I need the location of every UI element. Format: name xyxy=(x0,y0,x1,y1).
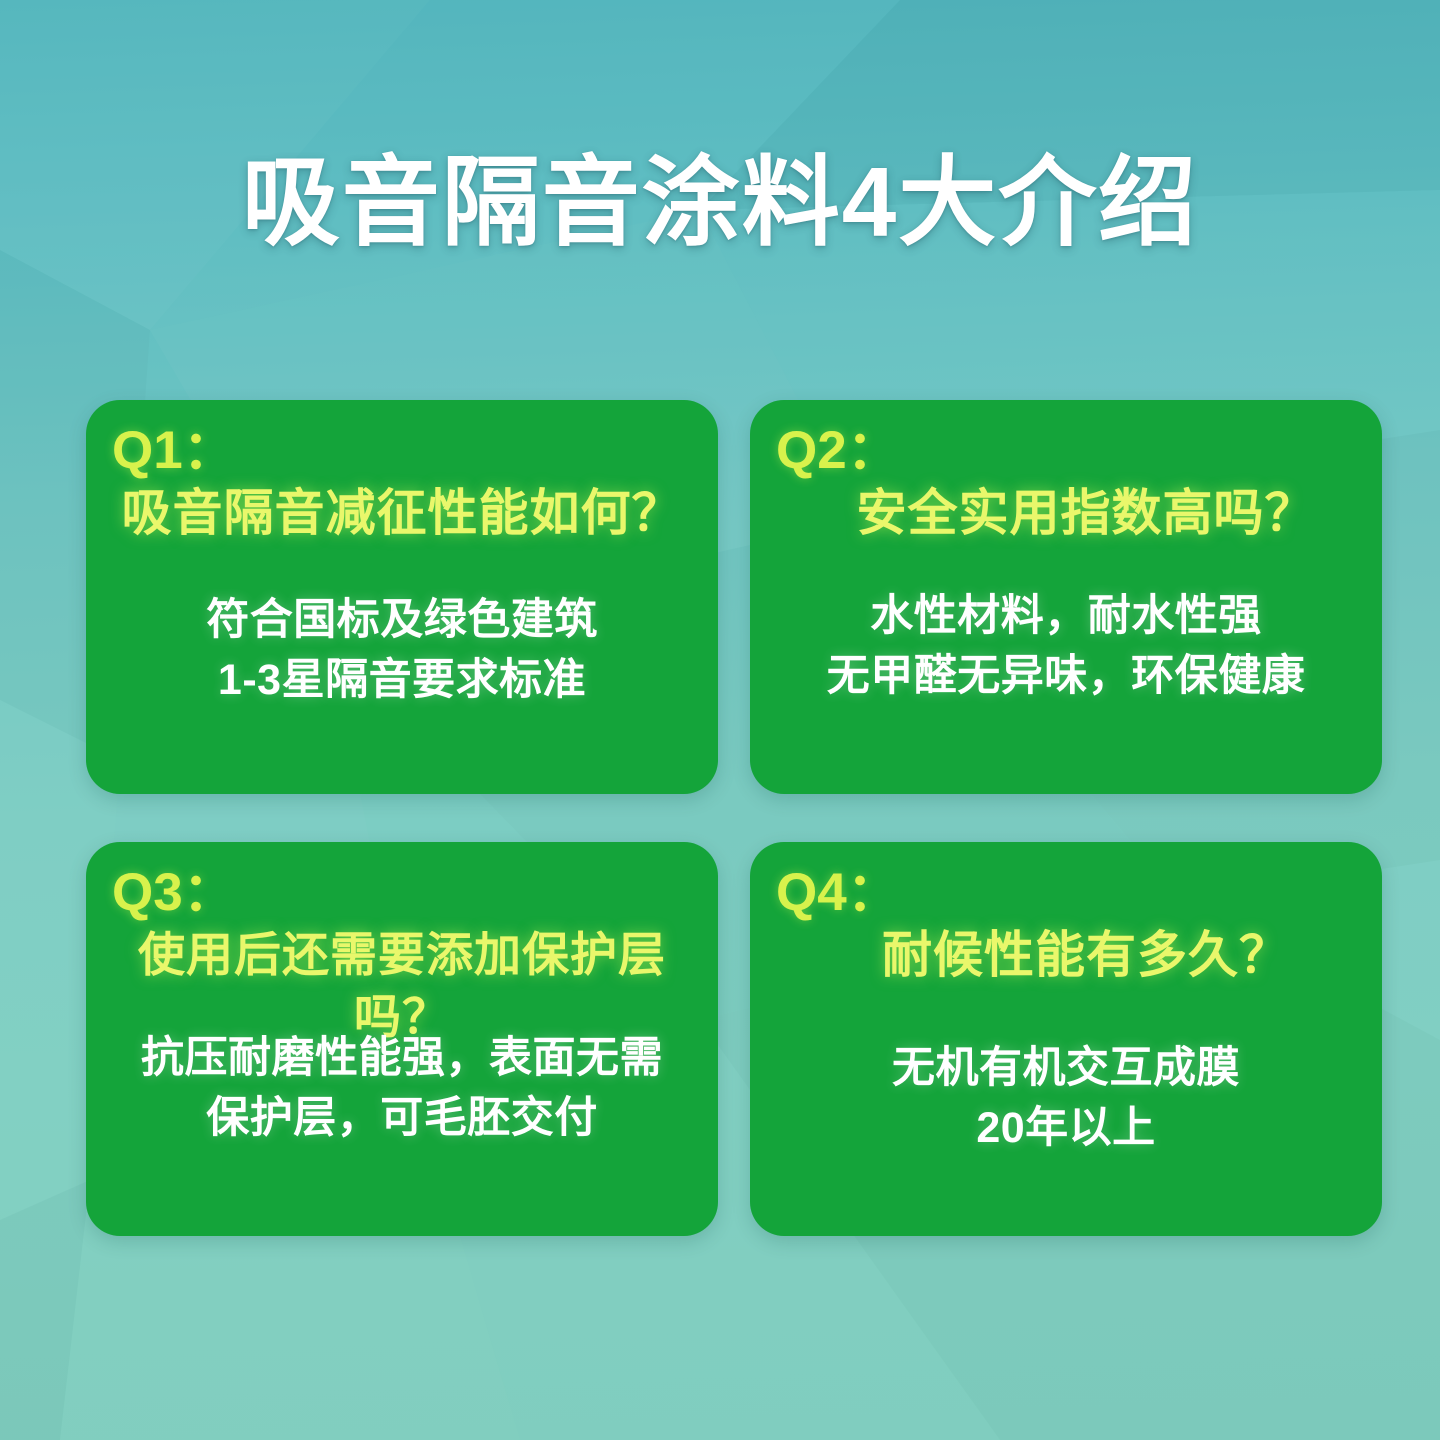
faq-answer-line: 符合国标及绿色建筑 xyxy=(108,590,696,650)
faq-card-q2: Q2： 安全实用指数高吗？ 水性材料，耐水性强 无甲醛无异味，环保健康 xyxy=(750,400,1382,794)
faq-answer-line: 保护层，可毛胚交付 xyxy=(108,1088,696,1148)
faq-card-grid: Q1： 吸音隔音减征性能如何？ 符合国标及绿色建筑 1-3星隔音要求标准 Q2：… xyxy=(86,400,1382,1236)
faq-answer-line: 无机有机交互成膜 xyxy=(772,1038,1360,1098)
faq-answer-line: 水性材料，耐水性强 xyxy=(772,586,1360,646)
faq-card-answer-q2: 水性材料，耐水性强 无甲醛无异味，环保健康 xyxy=(772,586,1360,706)
faq-answer-line: 20年以上 xyxy=(772,1098,1360,1158)
faq-answer-line: 1-3星隔音要求标准 xyxy=(108,650,696,710)
faq-card-answer-q4: 无机有机交互成膜 20年以上 xyxy=(772,1038,1360,1158)
page-title-text: 吸音隔音涂料4大介绍 xyxy=(242,146,1199,258)
page-title: 吸音隔音涂料4大介绍 xyxy=(0,146,1440,258)
faq-card-question-q1: 吸音隔音减征性能如何？ xyxy=(104,482,700,544)
faq-card-q3: Q3： 使用后还需要添加保护层吗？ 抗压耐磨性能强，表面无需 保护层，可毛胚交付 xyxy=(86,842,718,1236)
faq-card-label-q2: Q2： xyxy=(776,422,900,480)
faq-card-label-q3: Q3： xyxy=(112,864,236,922)
faq-card-answer-q1: 符合国标及绿色建筑 1-3星隔音要求标准 xyxy=(108,590,696,710)
poster-root: 吸音隔音涂料4大介绍 Q1： 吸音隔音减征性能如何？ 符合国标及绿色建筑 1-3… xyxy=(0,0,1440,1440)
faq-card-q1: Q1： 吸音隔音减征性能如何？ 符合国标及绿色建筑 1-3星隔音要求标准 xyxy=(86,400,718,794)
faq-card-question-q2: 安全实用指数高吗？ xyxy=(768,482,1364,544)
faq-answer-line: 抗压耐磨性能强，表面无需 xyxy=(108,1028,696,1088)
faq-answer-line: 无甲醛无异味，环保健康 xyxy=(772,646,1360,706)
faq-card-answer-q3: 抗压耐磨性能强，表面无需 保护层，可毛胚交付 xyxy=(108,1028,696,1148)
faq-card-q4: Q4： 耐候性能有多久？ 无机有机交互成膜 20年以上 xyxy=(750,842,1382,1236)
faq-card-label-q1: Q1： xyxy=(112,422,236,480)
faq-card-label-q4: Q4： xyxy=(776,864,900,922)
faq-card-question-q4: 耐候性能有多久？ xyxy=(768,924,1364,986)
